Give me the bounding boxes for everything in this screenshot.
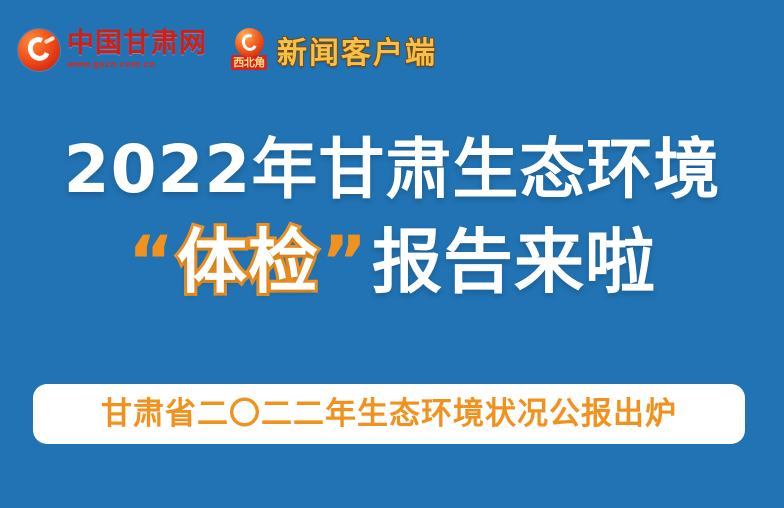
headline-block: 2022年甘肃生态环境 “ 体检 ” 报告来啦 — [0, 128, 784, 312]
xibeijiao-badge-label: 西北角 — [231, 55, 267, 70]
poster-canvas: 中国甘肃网 www.gscn.com.cn 西北角 新闻客户端 2022年甘肃生… — [0, 0, 784, 508]
gscn-circle-logo-icon — [18, 29, 60, 71]
headline-line-1: 2022年甘肃生态环境 — [0, 128, 784, 212]
gscn-url: www.gscn.com.cn — [67, 60, 207, 70]
open-quote-mark: “ — [128, 227, 175, 297]
gscn-wordmark: 中国甘肃网 www.gscn.com.cn — [67, 30, 207, 70]
xibeijiao-badge: 西北角 — [229, 27, 269, 73]
headline-emphasis-word: 体检 — [177, 212, 319, 312]
headline-line-2-tail: 报告来啦 — [372, 212, 656, 312]
logo-gscn[interactable]: 中国甘肃网 www.gscn.com.cn — [18, 29, 207, 71]
headline-line-2: “ 体检 ” 报告来啦 — [0, 212, 784, 312]
subtitle-text: 甘肃省二〇二二年生态环境状况公报出炉 — [101, 399, 677, 430]
subtitle-banner: 甘肃省二〇二二年生态环境状况公报出炉 — [33, 384, 745, 444]
xibeijiao-circle-logo-icon — [235, 28, 264, 57]
header-logo-bar: 中国甘肃网 www.gscn.com.cn 西北角 新闻客户端 — [0, 0, 784, 100]
xibeijiao-app-title: 新闻客户端 — [277, 28, 437, 72]
gscn-name: 中国甘肃网 — [67, 30, 207, 57]
close-quote-mark: ” — [321, 227, 368, 297]
logo-xibeijiao[interactable]: 西北角 新闻客户端 — [229, 27, 437, 73]
